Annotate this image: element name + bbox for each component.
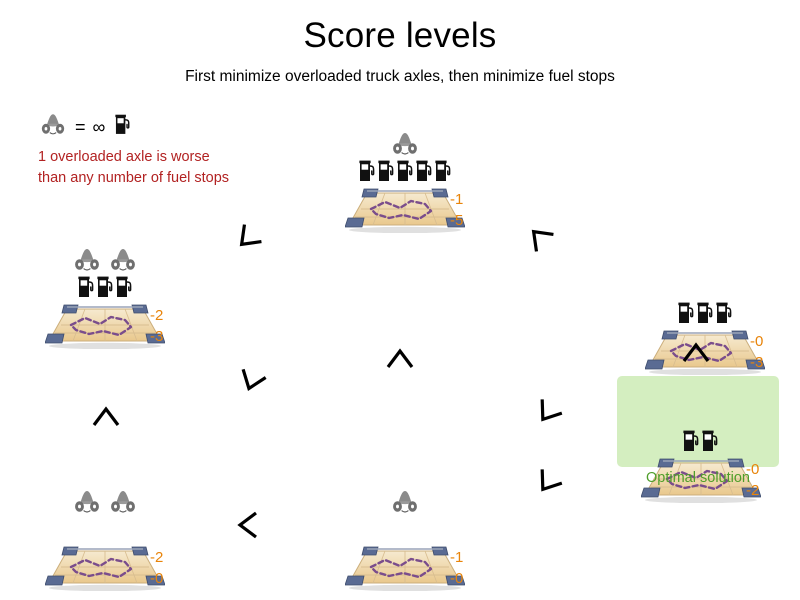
fuel-pump-icon (416, 160, 433, 182)
solution-node-optimal: -0 -2 (616, 396, 786, 511)
soft-score: -3 (150, 326, 180, 347)
route-map-plate: -1 -0 (320, 543, 490, 599)
axle-count-row (20, 246, 190, 272)
hard-score: -0 (750, 331, 780, 352)
axle-count-row (20, 488, 190, 514)
less-than-operator (229, 505, 269, 545)
score-labels: -1 -0 (450, 547, 480, 589)
less-than-operator (380, 340, 420, 380)
fuel-pump-icon (397, 160, 414, 182)
solution-card: -1 -0 (320, 484, 490, 599)
legend-note: 1 overloaded axle is worse than any numb… (38, 147, 229, 189)
less-than-operator (528, 462, 568, 502)
fuel-stop-count-row (20, 272, 190, 298)
overloaded-axle-icon (389, 132, 421, 156)
soft-score: -5 (450, 210, 480, 231)
hard-score: -1 (450, 547, 480, 568)
soft-score: -0 (450, 568, 480, 589)
equals-sign: = (75, 118, 86, 136)
overloaded-axle-icon (71, 248, 103, 272)
axle-count-row (320, 130, 490, 156)
legend-equation: = ∞ (38, 112, 229, 142)
axle-count-row (616, 400, 786, 426)
overloaded-axle-icon (38, 113, 68, 141)
score-labels: -2 -0 (150, 547, 180, 589)
less-than-operator (528, 392, 568, 432)
hard-score: -1 (450, 189, 480, 210)
route-map-plate: -1 -5 (320, 185, 490, 241)
fuel-pump-icon (697, 302, 714, 324)
less-than-operator (676, 334, 716, 374)
fuel-pump-icon (359, 160, 376, 182)
infinity-sign: ∞ (93, 118, 106, 136)
solution-node-left: -2 -3 (20, 242, 190, 357)
fuel-pump-icon (435, 160, 452, 182)
score-labels: -0 -3 (750, 331, 780, 373)
solution-node-bottom-center: -1 -0 (320, 484, 490, 599)
overloaded-axle-icon (107, 490, 139, 514)
route-map-graphic (45, 543, 165, 596)
solution-card: -1 -5 (320, 126, 490, 241)
fuel-pump-icon (116, 276, 133, 298)
fuel-pump-icon (378, 160, 395, 182)
score-labels: -2 -3 (150, 305, 180, 347)
fuel-pump-icon (78, 276, 95, 298)
fuel-pump-icon (97, 276, 114, 298)
optimal-solution-label: Optimal solution (617, 470, 779, 486)
fuel-pump-icon (678, 302, 695, 324)
solution-card: -2 -3 (20, 242, 190, 357)
less-than-operator (520, 218, 560, 258)
route-map-graphic (345, 543, 465, 596)
fuel-stop-count-row (620, 298, 790, 324)
fuel-stop-count-row (320, 514, 490, 540)
less-than-operator (232, 360, 272, 400)
solution-node-bottom-left: -2 -0 (20, 484, 190, 599)
route-map-plate: -2 -0 (20, 543, 190, 599)
less-than-operator (86, 398, 126, 438)
score-labels: -1 -5 (450, 189, 480, 231)
soft-score: -0 (150, 568, 180, 589)
fuel-stop-count-row (320, 156, 490, 182)
less-than-operator (228, 218, 268, 258)
solution-node-top-center: -1 -5 (320, 126, 490, 241)
fuel-pump-icon (702, 430, 719, 452)
fuel-pump-icon (716, 302, 733, 324)
legend: = ∞ 1 overloaded axle is worse than any … (38, 112, 229, 189)
overloaded-axle-icon (107, 248, 139, 272)
fuel-stop-count-row (616, 426, 786, 452)
overloaded-axle-icon (389, 490, 421, 514)
page-subtitle: First minimize overloaded truck axles, t… (0, 66, 800, 87)
solution-card: -2 -0 (20, 484, 190, 599)
page-title: Score levels (0, 16, 800, 56)
fuel-pump-icon (683, 430, 700, 452)
hard-score: -2 (150, 305, 180, 326)
soft-score: -3 (750, 352, 780, 373)
solution-card: -0 -2 (616, 396, 786, 511)
score-levels-diagram: Score levels First minimize overloaded t… (0, 0, 800, 600)
route-map-plate: -2 -3 (20, 301, 190, 357)
route-map-graphic (345, 185, 465, 238)
route-map-graphic (45, 301, 165, 354)
hard-score: -2 (150, 547, 180, 568)
fuel-stop-count-row (20, 514, 190, 540)
overloaded-axle-icon (71, 490, 103, 514)
fuel-pump-icon (115, 114, 131, 140)
axle-count-row (320, 488, 490, 514)
axle-count-row (620, 272, 790, 298)
